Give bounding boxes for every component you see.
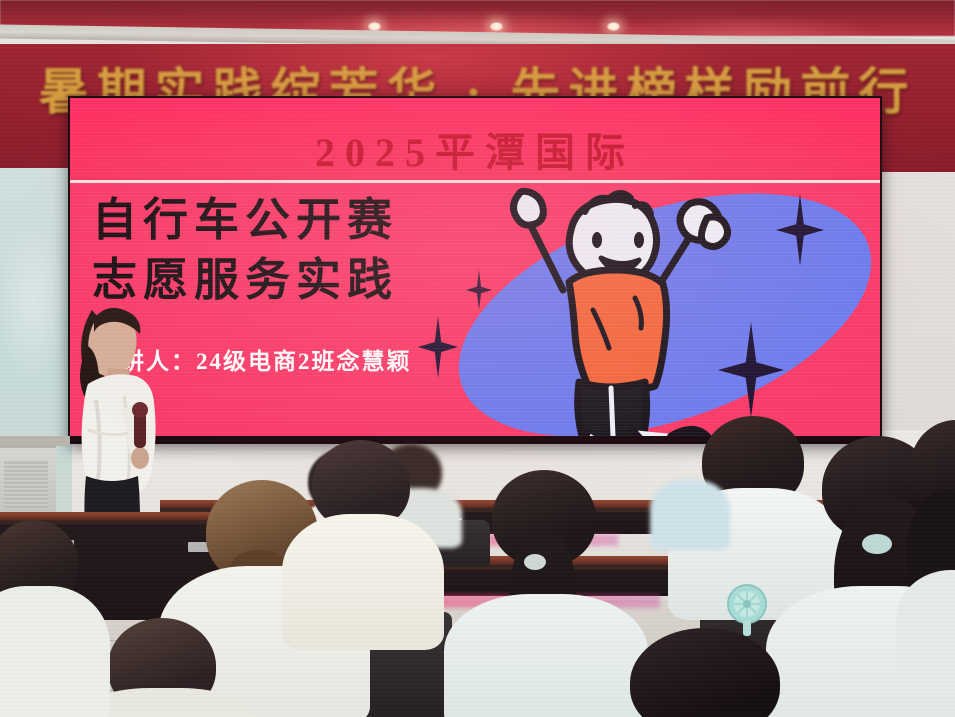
audience-person-left-edge — [0, 520, 94, 717]
handheld-mini-fan — [726, 584, 768, 636]
scrunchie — [524, 554, 546, 570]
screen-heading-line-1: 自行车公开赛 — [92, 190, 512, 250]
audience-person-center-cream — [282, 440, 442, 640]
shoulders — [650, 480, 730, 550]
audience-person-bottom-center — [600, 628, 810, 717]
ceiling-light-2 — [490, 22, 503, 31]
head — [630, 628, 780, 717]
screen-heading: 自行车公开赛 志愿服务实践 — [92, 190, 512, 310]
scrunchie — [862, 534, 892, 554]
audience-person-right-edge — [906, 420, 955, 680]
led-screen[interactable]: 2025平潭国际 — [70, 98, 880, 436]
lecture-hall-photo: 暑期实践绽芳华 · 先进榜样励前行 经济管理系2025暑假社会实践表彰大会 20… — [0, 0, 955, 717]
av-equipment-grille — [4, 460, 48, 508]
mascot-illustration — [475, 178, 775, 436]
ceiling-light-3 — [607, 22, 620, 31]
shoulders — [282, 514, 444, 650]
av-cabinet-top — [0, 436, 70, 446]
shoulders — [0, 586, 110, 717]
audience-person-back-blue — [650, 470, 730, 550]
screen-title: 2025平潭国际 — [70, 120, 880, 178]
